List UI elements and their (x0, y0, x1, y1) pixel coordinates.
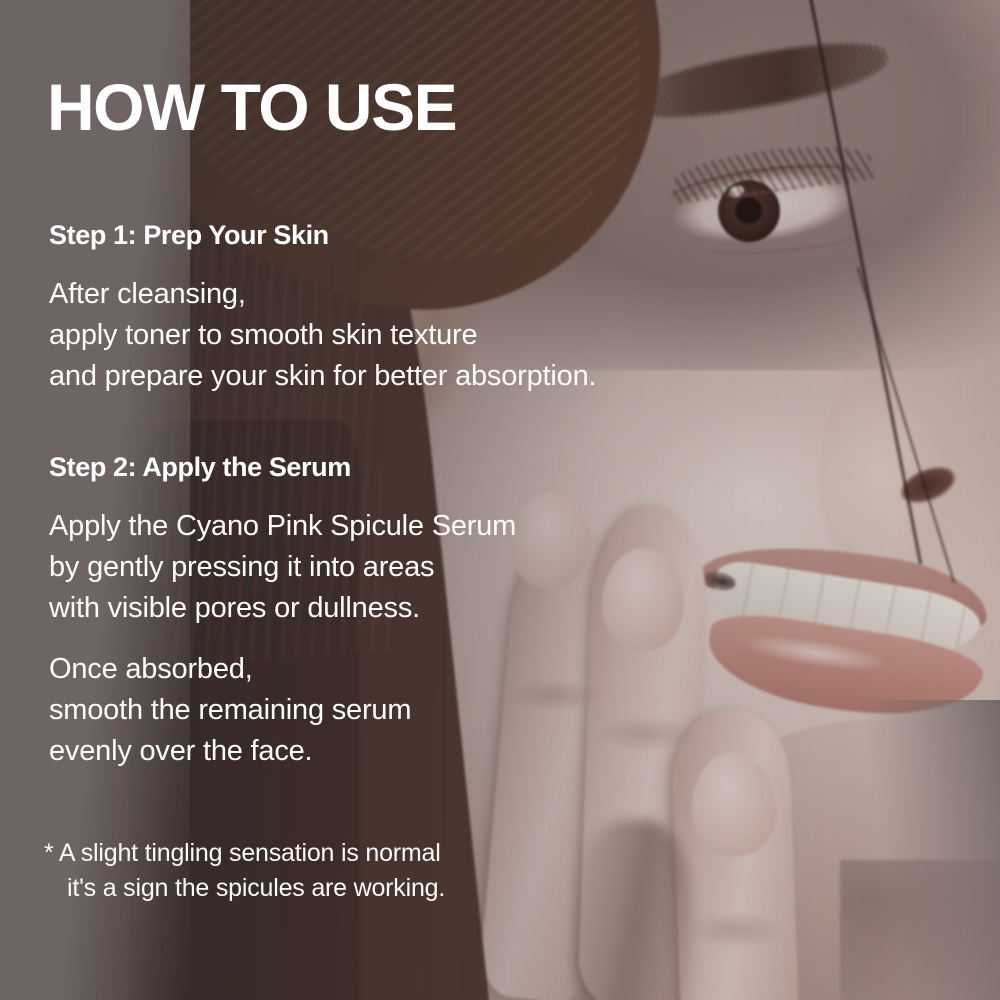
footnote: * A slight tingling sensation is normal … (44, 836, 445, 906)
page-title: HOW TO USE (47, 74, 456, 140)
step-1-paragraph: After cleansing, apply toner to smooth s… (49, 274, 596, 397)
step-2-p1-line-2: by gently pressing it into areas (49, 551, 434, 583)
step-2-p1-line-1: Apply the Cyano Pink Spicule Serum (49, 510, 516, 542)
step-2-block: Step 2: Apply the Serum Apply the Cyano … (49, 452, 516, 772)
step-2-p2-line-3: evenly over the face. (49, 735, 312, 767)
step-1-heading: Step 1: Prep Your Skin (49, 220, 596, 251)
step-2-p2-line-2: smooth the remaining serum (49, 694, 411, 726)
step-2-paragraph-2: Once absorbed, smooth the remaining seru… (49, 649, 516, 772)
step-1-line-3: and prepare your skin for better absorpt… (49, 360, 596, 392)
step-2-heading: Step 2: Apply the Serum (49, 452, 516, 483)
footnote-line-1: A slight tingling sensation is normal (59, 839, 441, 867)
how-to-use-card: HOW TO USE Step 1: Prep Your Skin After … (0, 0, 1000, 1000)
footnote-marker: * (44, 839, 54, 867)
step-1-line-1: After cleansing, (49, 278, 246, 310)
text-content: HOW TO USE Step 1: Prep Your Skin After … (0, 0, 1000, 1000)
step-2-p1-line-3: with visible pores or dullness. (49, 592, 420, 624)
step-2-paragraph-1: Apply the Cyano Pink Spicule Serum by ge… (49, 506, 516, 629)
step-2-p2-line-1: Once absorbed, (49, 653, 253, 685)
step-1-line-2: apply toner to smooth skin texture (49, 319, 477, 351)
step-1-block: Step 1: Prep Your Skin After cleansing, … (49, 220, 596, 397)
footnote-line-2: it's a sign the spicules are working. (44, 871, 445, 906)
